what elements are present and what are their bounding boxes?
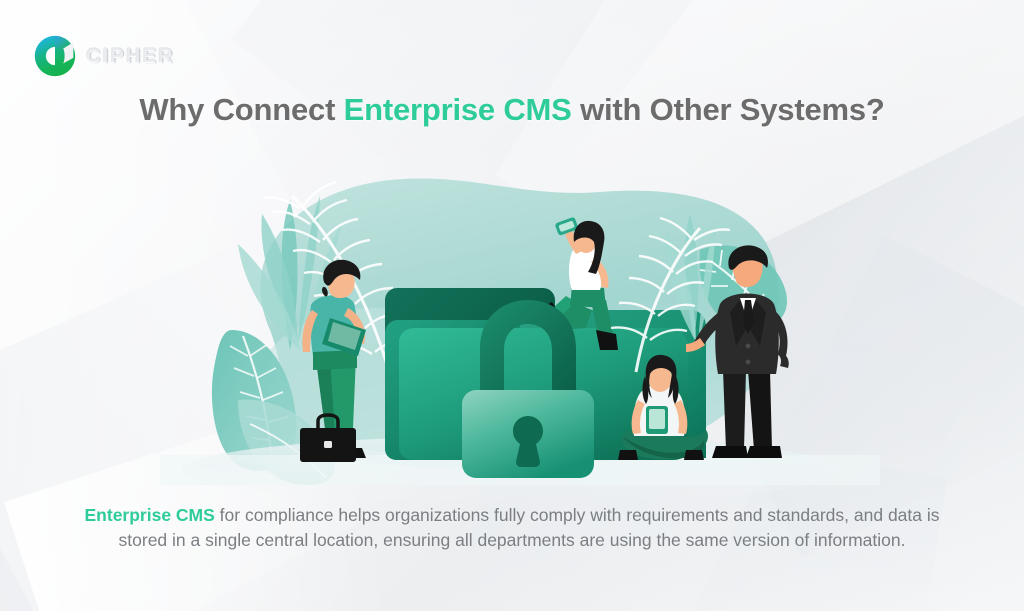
page-title-accent: Enterprise CMS (344, 92, 572, 127)
caption-accent: Enterprise CMS (85, 505, 215, 525)
caption-body: for compliance helps organizations fully… (119, 505, 940, 550)
page-title-part1: Why Connect (139, 92, 343, 127)
brand-logo[interactable]: CIPHER (33, 34, 175, 78)
slide-canvas: CIPHER Why Connect Enterprise CMS with O… (0, 0, 1024, 611)
brand-wordmark: CIPHER (86, 45, 175, 68)
page-title-part2: with Other Systems? (572, 92, 885, 127)
cipher-c-logo-icon (33, 34, 77, 78)
caption-text: Enterprise CMS for compliance helps orga… (72, 503, 952, 553)
page-title: Why Connect Enterprise CMS with Other Sy… (0, 92, 1024, 128)
